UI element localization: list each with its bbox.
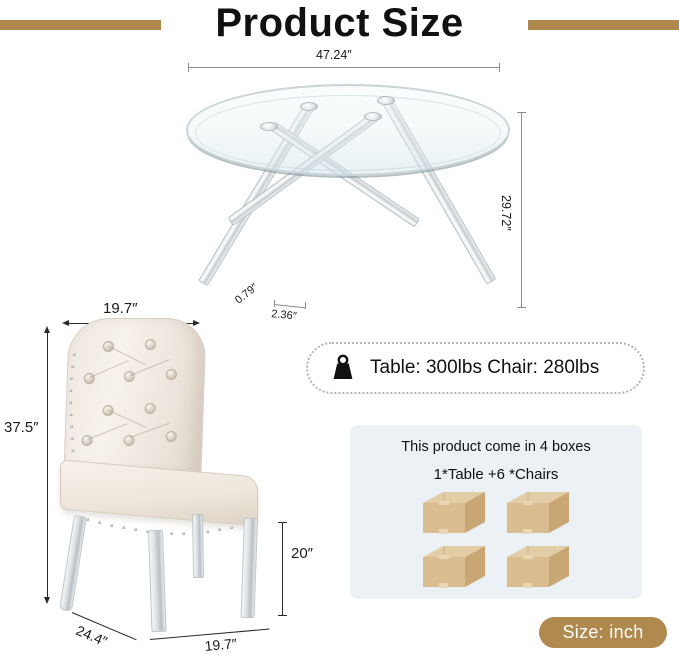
weight-capacity-banner: Table: 300lbs Chair: 280lbs xyxy=(306,342,645,394)
cardboard-box-icon xyxy=(417,543,491,591)
chair-height-arrow-bottom xyxy=(44,597,50,604)
table-leg-width-tick-right xyxy=(305,302,306,309)
page-title: Product Size xyxy=(0,0,679,48)
nailhead-trim xyxy=(71,365,74,368)
chair-leg-front-left xyxy=(59,515,87,612)
tuft-seam xyxy=(106,409,146,428)
packaging-title: This product come in 4 boxes xyxy=(401,439,590,455)
table-leg-mount-1 xyxy=(300,102,318,111)
nailhead-trim xyxy=(98,521,101,524)
cardboard-box-icon xyxy=(501,489,575,537)
table-glass-inner-edge xyxy=(195,95,501,171)
tuft-button xyxy=(166,369,177,380)
table-width-dimension-line xyxy=(188,67,500,68)
chair-back-width-label: 19.7″ xyxy=(103,300,138,317)
size-unit-badge: Size: inch xyxy=(539,617,667,648)
nailhead-trim xyxy=(134,528,137,531)
cardboard-box-icon xyxy=(417,489,491,537)
table-leg-width-tick-left xyxy=(274,300,275,307)
nailhead-trim xyxy=(70,425,73,428)
tuft-button xyxy=(166,431,177,442)
chair-seat-height-dimension-line xyxy=(282,522,283,616)
nailhead-trim xyxy=(69,389,72,392)
nailhead-trim xyxy=(110,524,113,527)
nailhead-trim xyxy=(218,528,221,531)
nailhead-trim xyxy=(206,530,209,533)
packaging-panel: This product come in 4 boxes 1*Table +6 … xyxy=(350,425,642,599)
chair-leg-back-left xyxy=(192,514,204,578)
nailhead-trim xyxy=(122,526,125,529)
size-unit-label: Size: inch xyxy=(562,622,643,643)
table-width-label: 47.24″ xyxy=(316,48,352,62)
tuft-seam xyxy=(130,359,170,376)
nailhead-trim xyxy=(230,526,233,529)
cardboard-box-icon xyxy=(501,543,575,591)
tuft-button xyxy=(145,403,156,414)
nailhead-trim xyxy=(71,437,74,440)
chair-backrest xyxy=(63,318,207,482)
nailhead-trim xyxy=(69,401,72,404)
table-height-tick-top xyxy=(517,112,526,113)
tuft-seam xyxy=(130,423,170,438)
chair-height-dimension-line xyxy=(47,330,48,600)
chair-seat-height-tick-top xyxy=(278,522,287,523)
chair-seat-width-label: 19.7″ xyxy=(204,635,237,654)
chair-seat-height-tick-bottom xyxy=(278,615,287,616)
chair-height-label: 37.5″ xyxy=(4,419,39,436)
chair-height-arrow-top xyxy=(44,326,50,333)
weight-icon xyxy=(328,353,358,383)
glass-dining-table-illustration xyxy=(186,80,506,315)
tuft-button xyxy=(145,339,156,350)
tuft-seam xyxy=(87,423,127,440)
table-height-tick-bottom xyxy=(517,307,526,308)
packaging-box-grid xyxy=(417,489,575,591)
nailhead-trim xyxy=(73,353,76,356)
packaging-contents: 1*Table +6 *Chairs xyxy=(434,466,559,483)
chair-leg-front-right xyxy=(148,530,167,632)
table-leg-mount-4 xyxy=(364,112,382,121)
tuft-seam xyxy=(107,345,146,365)
dining-chair-illustration xyxy=(52,318,287,618)
weight-capacity-text: Table: 300lbs Chair: 280lbs xyxy=(370,357,599,379)
table-leg-mount-2 xyxy=(377,96,395,105)
nailhead-trim xyxy=(71,449,74,452)
table-width-tick-right xyxy=(499,63,500,72)
nailhead-trim xyxy=(70,377,73,380)
nailhead-trim xyxy=(182,532,185,535)
chair-seat xyxy=(60,459,258,526)
chair-seat-height-label: 20″ xyxy=(291,545,313,562)
table-width-tick-left xyxy=(188,63,189,72)
table-height-dimension-line xyxy=(521,112,522,308)
table-leg-mount-3 xyxy=(260,122,278,131)
chair-leg-back-right xyxy=(241,518,258,618)
product-size-infographic: Product Size 47.24″ 29.72″ 0.79″ 2.36″ 1… xyxy=(0,0,679,658)
nailhead-trim xyxy=(170,532,173,535)
nailhead-trim xyxy=(69,413,72,416)
table-glass-top xyxy=(186,84,510,176)
table-height-label: 29.72″ xyxy=(499,195,513,231)
